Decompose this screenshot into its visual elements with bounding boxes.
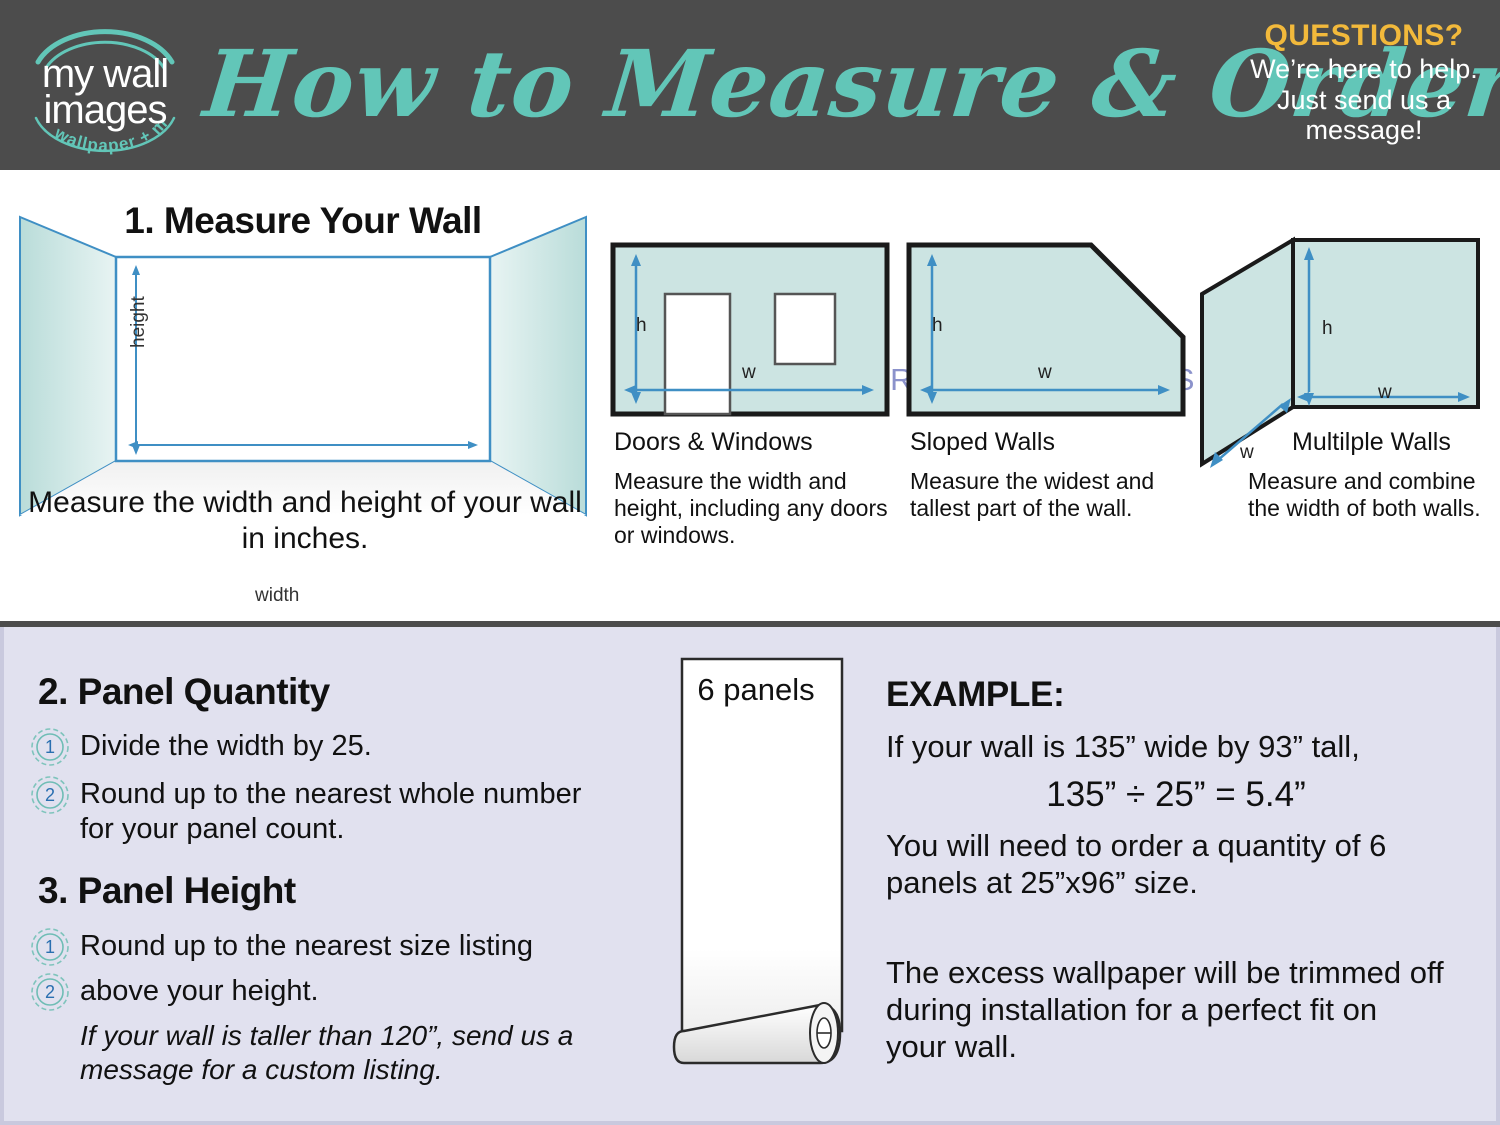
card-heading-multi: Multilple Walls <box>1292 428 1451 457</box>
example-heading: EXAMPLE: <box>886 675 1064 715</box>
example-line-1: If your wall is 135” wide by 93” tall, <box>886 729 1486 765</box>
step-1-caption: Measure the width and height of your wal… <box>20 485 590 557</box>
number-badge-3-icon: 1 <box>30 927 70 967</box>
badge-number-3: 1 <box>45 937 55 957</box>
logo-line-2: images <box>14 90 196 130</box>
dim-w-multi-left: w <box>1240 442 1254 464</box>
number-badge-2-icon: 2 <box>30 775 70 815</box>
step-2-title: 2. Panel Quantity <box>38 671 330 713</box>
height-dimension-label: height <box>128 296 150 348</box>
badge-number-1: 1 <box>45 737 55 757</box>
step-1-title: 1. Measure Your Wall <box>8 200 598 242</box>
step-3-bullet-1-text: Round up to the nearest size listing <box>80 929 590 964</box>
number-badge-1-icon: 1 <box>30 727 70 767</box>
card-heading-doors: Doors & Windows <box>614 428 813 457</box>
number-badge-4-icon: 2 <box>30 972 70 1012</box>
questions-block: QUESTIONS? We’re here to help. Just send… <box>1240 20 1488 145</box>
example-line-2: You will need to order a quantity of 6 p… <box>886 827 1466 901</box>
step-2-bullet-1-text: Divide the width by 25. <box>80 729 590 764</box>
example-formula: 135” ÷ 25” = 5.4” <box>886 775 1466 815</box>
measure-section: 1. Measure Your Wall height width Measur… <box>0 170 1500 623</box>
questions-heading: QUESTIONS? <box>1240 20 1488 52</box>
card-heading-sloped: Sloped Walls <box>910 428 1055 457</box>
roll-panel-count-label: 6 panels <box>672 672 840 708</box>
panel-calc-section: 2. Panel Quantity 1 Divide the width by … <box>0 627 1500 1125</box>
dim-h-doors: h <box>636 315 647 337</box>
badge-number-2: 2 <box>45 785 55 805</box>
example-line-3: The excess wallpaper will be trimmed off… <box>886 954 1446 1066</box>
step-3-note: If your wall is taller than 120”, send u… <box>80 1019 600 1087</box>
step-2-bullet-2-text: Round up to the nearest whole number for… <box>80 777 590 847</box>
step-3-bullet-2-text: above your height. <box>80 974 590 1009</box>
step-3-title: 3. Panel Height <box>38 870 296 912</box>
card-body-sloped: Measure the widest and tallest part of t… <box>910 468 1185 522</box>
dim-w-doors: w <box>742 362 756 384</box>
page-title: How to Measure & Order <box>198 16 1222 152</box>
dim-h-sloped: h <box>932 315 943 337</box>
wallpaper-roll-diagram <box>672 655 857 1095</box>
header-bar: wallpaper + more my wall images How to M… <box>0 0 1500 170</box>
sloped-walls-diagram <box>906 242 1186 417</box>
dim-w-multi: w <box>1378 382 1392 404</box>
doors-windows-diagram <box>610 242 890 417</box>
questions-body: We’re here to help. Just send us a messa… <box>1240 54 1488 145</box>
dim-w-sloped: w <box>1038 362 1052 384</box>
infographic-page: wallpaper + more my wall images How to M… <box>0 0 1500 1125</box>
width-dimension-label: width <box>255 585 299 607</box>
card-body-doors: Measure the width and height, including … <box>614 468 892 549</box>
card-body-multi: Measure and combine the width of both wa… <box>1248 468 1498 522</box>
badge-number-4: 2 <box>45 982 55 1002</box>
dim-h-multi: h <box>1322 318 1333 340</box>
brand-logo: wallpaper + more my wall images <box>14 14 196 162</box>
